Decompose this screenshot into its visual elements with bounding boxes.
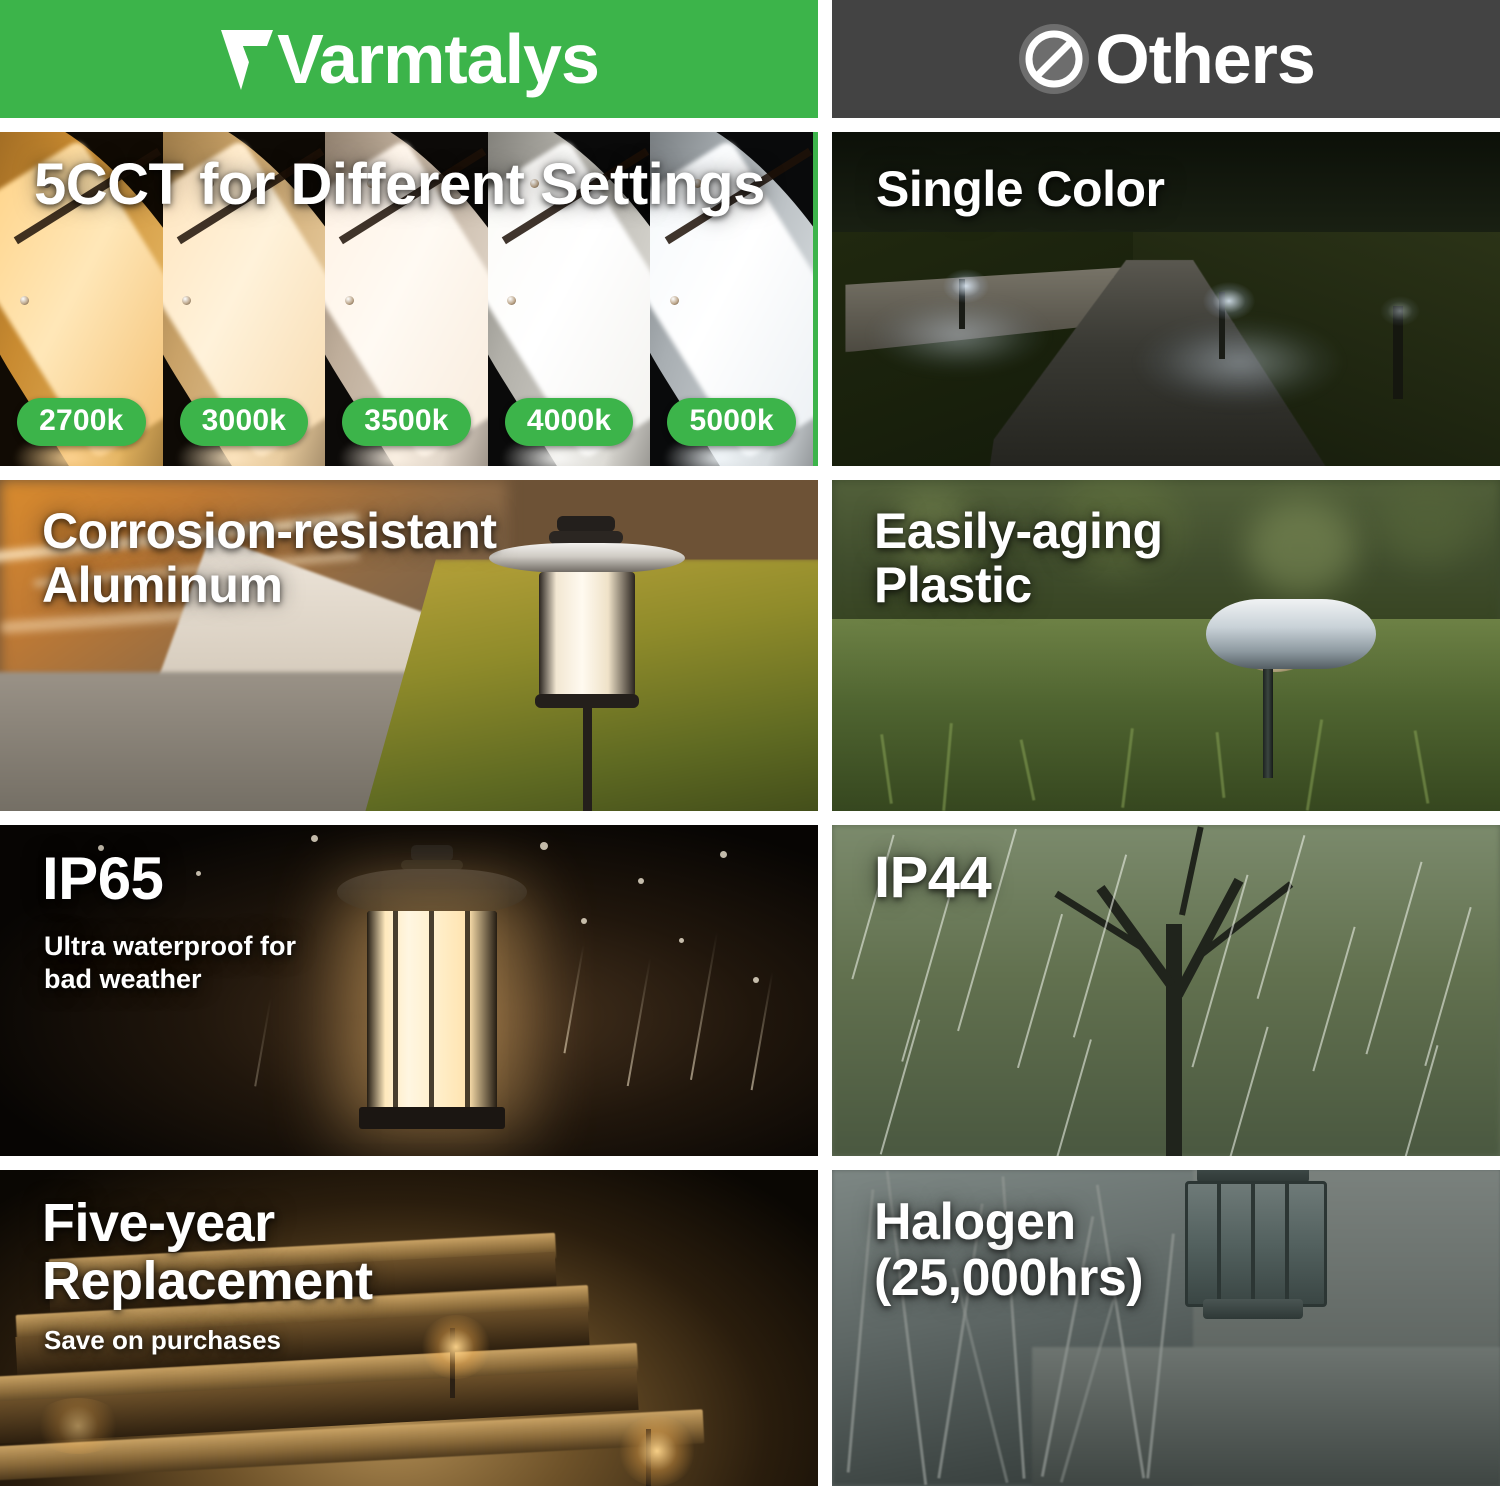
ip44-title: IP44 xyxy=(874,847,991,910)
brand-header: Varmtalys xyxy=(0,0,818,118)
v-logo-icon xyxy=(219,26,275,92)
cct-badge-5000k: 5000k xyxy=(667,398,795,446)
brand-logo: Varmtalys xyxy=(219,24,599,94)
step-lamp-glow-2 xyxy=(618,1416,696,1486)
five-year-title-line1: Five-year xyxy=(42,1194,373,1252)
plastic-title-line1: Easily-aging xyxy=(874,504,1163,558)
panel-ip44: IP44 xyxy=(832,825,1500,1156)
cct-badge-2700k: 2700k xyxy=(17,398,145,446)
aluminum-title-line2: Aluminum xyxy=(42,558,496,612)
panel-single-color: Single Color xyxy=(832,132,1500,466)
cct-badge-3000k: 3000k xyxy=(180,398,308,446)
cct-badge-row: 2700k 3000k 3500k 4000k 5000k xyxy=(0,398,813,446)
brand-name: Varmtalys xyxy=(277,24,599,94)
ip65-lantern xyxy=(327,845,537,1130)
panel-plastic: Easily-aging Plastic xyxy=(832,480,1500,811)
panel-5cct: 5CCT for Different Settings 2700k 3000k … xyxy=(0,132,818,466)
prohibited-icon xyxy=(1017,22,1091,96)
cct-title: 5CCT for Different Settings xyxy=(34,154,765,217)
plastic-title-line2: Plastic xyxy=(874,558,1163,612)
tree-trunk xyxy=(1166,924,1182,1156)
ip65-subtitle: Ultra waterproof for bad weather xyxy=(44,930,296,996)
others-label: Others xyxy=(1095,19,1315,99)
aluminum-title: Corrosion-resistant Aluminum xyxy=(42,504,496,612)
ip65-subtitle-line1: Ultra waterproof for xyxy=(44,930,296,963)
cct-badge-3500k: 3500k xyxy=(342,398,470,446)
aluminum-title-line1: Corrosion-resistant xyxy=(42,504,496,558)
ip65-title: IP65 xyxy=(42,847,163,912)
five-year-subtitle: Save on purchases xyxy=(44,1325,281,1357)
halogen-title-line2: (25,000hrs) xyxy=(874,1250,1143,1306)
plastic-title: Easily-aging Plastic xyxy=(874,504,1163,612)
five-year-title: Five-year Replacement xyxy=(42,1194,373,1311)
comparison-infographic: Varmtalys Others xyxy=(0,0,1500,1500)
step-lamp-glow-3 xyxy=(33,1398,123,1454)
plastic-lamp-head xyxy=(1206,599,1376,669)
panel-ip65: IP65 Ultra waterproof for bad weather xyxy=(0,825,818,1156)
panel-five-year: Five-year Replacement Save on purchases xyxy=(0,1170,818,1486)
halogen-title-line1: Halogen xyxy=(874,1194,1143,1250)
others-header: Others xyxy=(832,0,1500,118)
panel-halogen: Halogen (25,000hrs) xyxy=(832,1170,1500,1486)
halogen-fixture xyxy=(1179,1170,1329,1347)
panel-aluminum: Corrosion-resistant Aluminum xyxy=(0,480,818,811)
plastic-lamp-stem xyxy=(1263,665,1273,778)
halogen-title: Halogen (25,000hrs) xyxy=(874,1194,1143,1306)
single-color-title: Single Color xyxy=(876,162,1164,216)
aluminum-lamp xyxy=(491,516,681,807)
cct-badge-4000k: 4000k xyxy=(505,398,633,446)
ip65-subtitle-line2: bad weather xyxy=(44,963,296,996)
five-year-title-line2: Replacement xyxy=(42,1252,373,1310)
